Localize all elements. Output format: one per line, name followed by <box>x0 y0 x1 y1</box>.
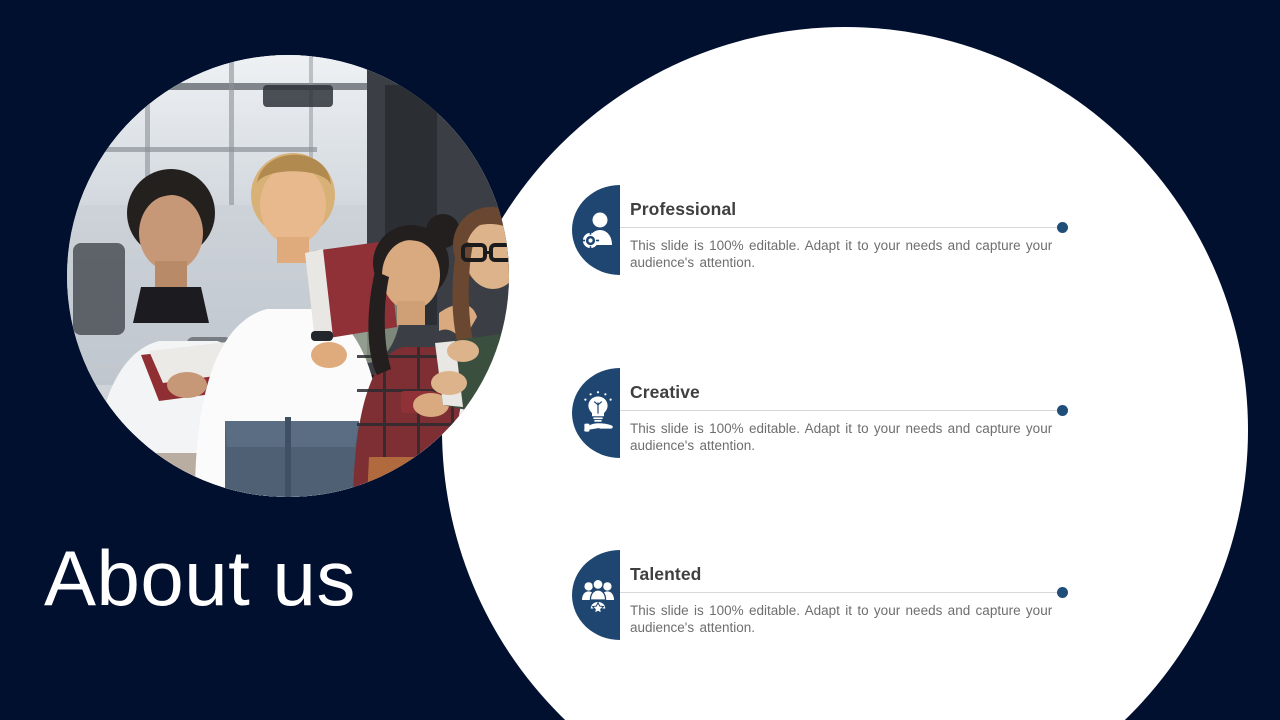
feature-icon-badge <box>572 185 620 275</box>
feature-body: Talented This slide is 100% editable. Ad… <box>620 550 1072 642</box>
page-title: About us <box>44 538 356 620</box>
lightbulb-in-hand-icon <box>581 390 615 436</box>
feature-description: This slide is 100% editable. Adapt it to… <box>630 602 1078 637</box>
feature-endpoint-dot <box>1057 405 1068 416</box>
feature-title: Creative <box>630 382 700 403</box>
feature-item-talented[interactable]: Talented This slide is 100% editable. Ad… <box>572 550 1072 642</box>
feature-body: Professional This slide is 100% editable… <box>620 185 1072 277</box>
feature-description: This slide is 100% editable. Adapt it to… <box>630 420 1078 455</box>
feature-endpoint-dot <box>1057 222 1068 233</box>
people-group-star-icon <box>581 572 615 618</box>
feature-icon-badge <box>572 368 620 458</box>
feature-item-creative[interactable]: Creative This slide is 100% editable. Ad… <box>572 368 1072 460</box>
person-gear-icon <box>581 207 615 253</box>
feature-body: Creative This slide is 100% editable. Ad… <box>620 368 1072 460</box>
feature-divider <box>620 227 1063 228</box>
feature-icon-badge <box>572 550 620 640</box>
feature-item-professional[interactable]: Professional This slide is 100% editable… <box>572 185 1072 277</box>
feature-endpoint-dot <box>1057 587 1068 598</box>
feature-divider <box>620 592 1063 593</box>
slide-canvas: About us Professional <box>0 0 1280 720</box>
feature-description: This slide is 100% editable. Adapt it to… <box>630 237 1078 272</box>
team-photo <box>67 55 509 497</box>
feature-divider <box>620 410 1063 411</box>
feature-title: Talented <box>630 564 701 585</box>
feature-title: Professional <box>630 199 736 220</box>
